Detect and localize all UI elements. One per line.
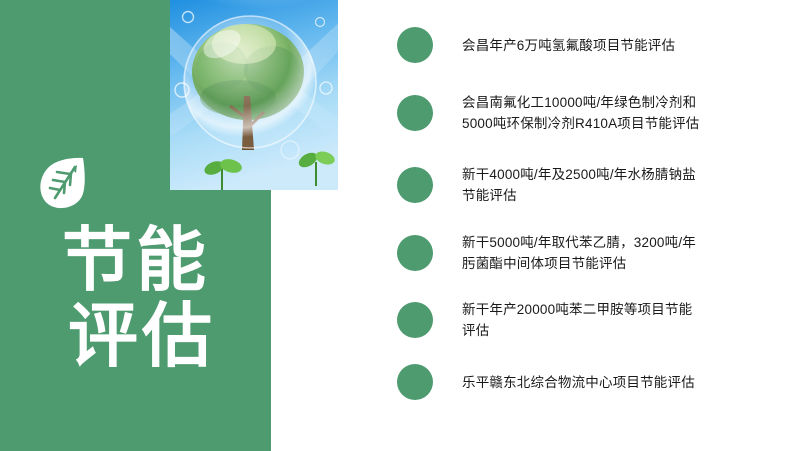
bullet-circle-icon — [397, 27, 433, 63]
bullet-circle-icon — [397, 95, 433, 131]
list-item[interactable]: 乐平赣东北综合物流中心项目节能评估 — [397, 364, 800, 400]
list-item-label: 会昌年产6万吨氢氟酸项目节能评估 — [462, 35, 800, 56]
page-title-line-1: 节能 — [62, 222, 262, 298]
list-item[interactable]: 新干年产20000吨苯二甲胺等项目节能 评估 — [397, 302, 800, 338]
list-item[interactable]: 会昌南氟化工10000吨/年绿色制冷剂和 5000吨环保制冷剂R410A项目节能… — [397, 95, 800, 131]
list-item-label: 新干年产20000吨苯二甲胺等项目节能 评估 — [462, 299, 800, 341]
list-item-label: 乐平赣东北综合物流中心项目节能评估 — [462, 372, 800, 393]
bullet-circle-icon — [397, 302, 433, 338]
list-item-label: 新干4000吨/年及2500吨/年水杨腈钠盐 节能评估 — [462, 164, 800, 206]
list-item[interactable]: 会昌年产6万吨氢氟酸项目节能评估 — [397, 27, 800, 63]
bullet-circle-icon — [397, 364, 433, 400]
project-list: 会昌年产6万吨氢氟酸项目节能评估 会昌南氟化工10000吨/年绿色制冷剂和 50… — [397, 0, 800, 451]
list-item[interactable]: 新干4000吨/年及2500吨/年水杨腈钠盐 节能评估 — [397, 167, 800, 203]
page-title: 节能 评估 — [62, 222, 262, 374]
leaf-icon — [36, 155, 88, 213]
bullet-circle-icon — [397, 235, 433, 271]
page-title-line-2: 评估 — [62, 298, 262, 374]
list-item-label: 会昌南氟化工10000吨/年绿色制冷剂和 5000吨环保制冷剂R410A项目节能… — [462, 92, 800, 134]
list-item-label: 新干5000吨/年取代苯乙腈，3200吨/年 肟菌酯中间体项目节能评估 — [462, 232, 800, 274]
list-item[interactable]: 新干5000吨/年取代苯乙腈，3200吨/年 肟菌酯中间体项目节能评估 — [397, 235, 800, 271]
slide-root: 节能 评估 会昌年产6万吨氢氟酸项目节能评估 会昌南氟化工10000吨/年绿色制… — [0, 0, 800, 451]
bullet-circle-icon — [397, 167, 433, 203]
tree-in-bubble-image — [170, 0, 338, 190]
